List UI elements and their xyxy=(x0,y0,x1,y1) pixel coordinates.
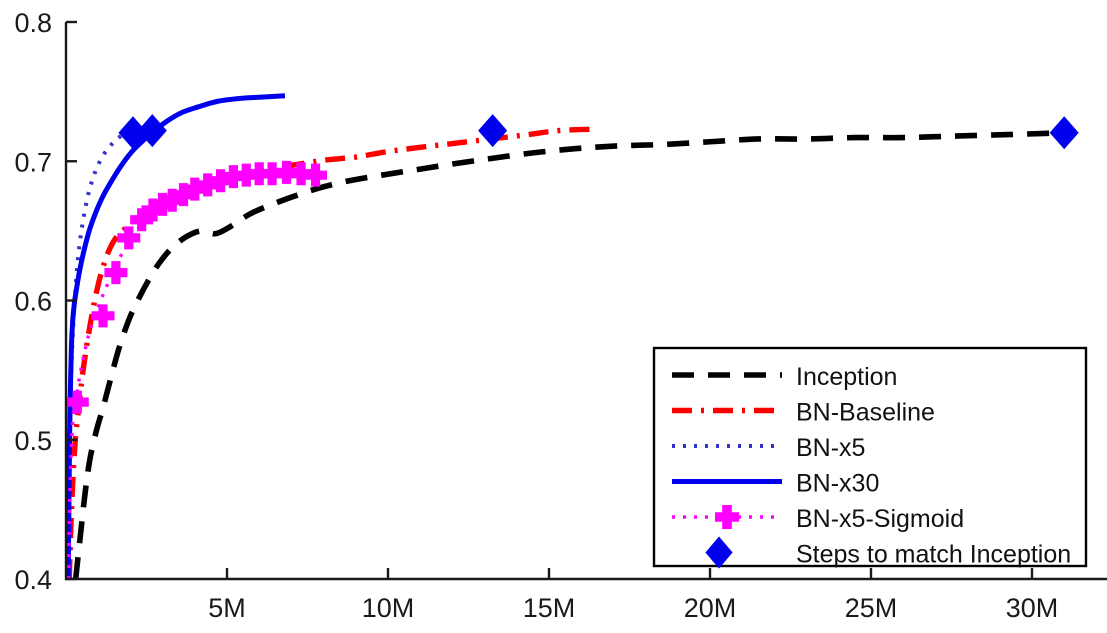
y-tick-label: 0.5 xyxy=(14,426,52,456)
legend-label: BN-x30 xyxy=(796,470,879,498)
steps-to-match-diamond xyxy=(1050,116,1079,149)
x-tick-label: 20M xyxy=(684,593,737,623)
y-tick-label: 0.4 xyxy=(14,565,52,595)
legend-label: BN-x5-Sigmoid xyxy=(796,505,964,533)
steps-to-match-diamond xyxy=(478,114,507,147)
plus-marker xyxy=(104,261,127,284)
series-bn-baseline xyxy=(69,129,591,579)
y-tick-label: 0.8 xyxy=(14,8,52,38)
chart-container: 0.40.50.60.70.85M10M15M20M25M30M Incepti… xyxy=(0,0,1107,633)
legend-label: BN-Baseline xyxy=(796,399,935,427)
chart-legend: InceptionBN-BaselineBN-x5BN-x30BN-x5-Sig… xyxy=(654,348,1086,569)
plus-marker xyxy=(92,304,115,327)
y-tick-label: 0.6 xyxy=(14,287,52,317)
legend-label: BN-x5 xyxy=(796,434,865,462)
plus-marker xyxy=(304,164,327,187)
x-tick-label: 5M xyxy=(208,593,246,623)
series-bn-x5-sigmoid xyxy=(66,161,327,579)
legend-label: Steps to match Inception xyxy=(796,541,1071,569)
accuracy-vs-training-steps-chart: 0.40.50.60.70.85M10M15M20M25M30M Incepti… xyxy=(0,0,1107,633)
x-tick-label: 15M xyxy=(523,593,576,623)
plus-marker xyxy=(117,226,140,249)
series-bn-x30 xyxy=(68,96,285,579)
y-tick-label: 0.7 xyxy=(14,147,52,177)
x-tick-label: 10M xyxy=(362,593,415,623)
series-line xyxy=(68,96,285,579)
x-tick-label: 25M xyxy=(845,593,898,623)
steps-to-match-markers xyxy=(118,114,1078,149)
x-tick-label: 30M xyxy=(1006,593,1059,623)
legend-label: Inception xyxy=(796,363,897,391)
series-line xyxy=(69,129,591,579)
